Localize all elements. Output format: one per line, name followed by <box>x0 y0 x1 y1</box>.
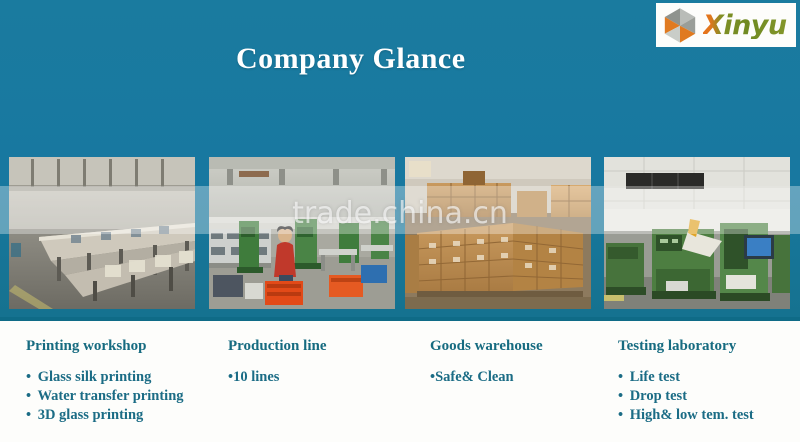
list-item-label: Glass silk printing <box>34 369 151 385</box>
column-heading: Production line <box>228 338 424 355</box>
printing-workshop-photo <box>9 157 195 309</box>
list-item: • 3D glass printing <box>26 406 226 425</box>
list-item-label: 3D glass printing <box>34 407 143 423</box>
list-item-label: Drop test <box>626 388 687 404</box>
list-item: • High& low tem. test <box>618 406 800 425</box>
list-item: •Safe& Clean <box>430 368 616 387</box>
list-item-label: 10 lines <box>233 369 279 385</box>
column-heading: Printing workshop <box>26 338 226 355</box>
caption-column-production-line: Production line •10 lines <box>228 321 424 387</box>
caption-column-printing-workshop: Printing workshop • Glass silk printing … <box>26 321 226 425</box>
bullet-icon: • <box>26 369 31 385</box>
goods-warehouse-photo <box>405 157 591 309</box>
list-item: • Glass silk printing <box>26 368 226 387</box>
column-heading: Goods warehouse <box>430 338 616 355</box>
list-item: • Drop test <box>618 387 800 406</box>
cube-icon <box>660 5 700 45</box>
production-line-photo <box>209 157 395 309</box>
company-logo: Xinyu <box>656 3 796 47</box>
list-item-label: High& low tem. test <box>626 407 754 423</box>
list-item: • Water transfer printing <box>26 387 226 406</box>
bullet-icon: • <box>26 407 31 423</box>
testing-laboratory-photo <box>604 157 790 309</box>
column-list: • Glass silk printing • Water transfer p… <box>26 368 226 425</box>
logo-wordmark: Xinyu <box>703 12 787 39</box>
caption-column-goods-warehouse: Goods warehouse •Safe& Clean <box>430 321 616 387</box>
list-item-label: Life test <box>626 369 680 385</box>
company-glance-slide: Xinyu Company Glance <box>0 0 800 442</box>
list-item: • Life test <box>618 368 800 387</box>
bullet-icon: • <box>618 369 623 385</box>
list-item: •10 lines <box>228 368 424 387</box>
page-title: Company Glance <box>236 42 466 76</box>
column-heading: Testing laboratory <box>618 338 800 355</box>
column-list: •Safe& Clean <box>430 368 616 387</box>
bullet-icon: • <box>618 407 623 423</box>
caption-column-testing-laboratory: Testing laboratory • Life test • Drop te… <box>618 321 800 425</box>
photo-strip <box>0 157 800 310</box>
list-item-label: Safe& Clean <box>435 369 514 385</box>
captions-panel: Printing workshop • Glass silk printing … <box>0 321 800 442</box>
bullet-icon: • <box>26 388 31 404</box>
column-list: •10 lines <box>228 368 424 387</box>
list-item-label: Water transfer printing <box>34 388 183 404</box>
column-list: • Life test • Drop test • High& low tem.… <box>618 368 800 425</box>
bullet-icon: • <box>618 388 623 404</box>
